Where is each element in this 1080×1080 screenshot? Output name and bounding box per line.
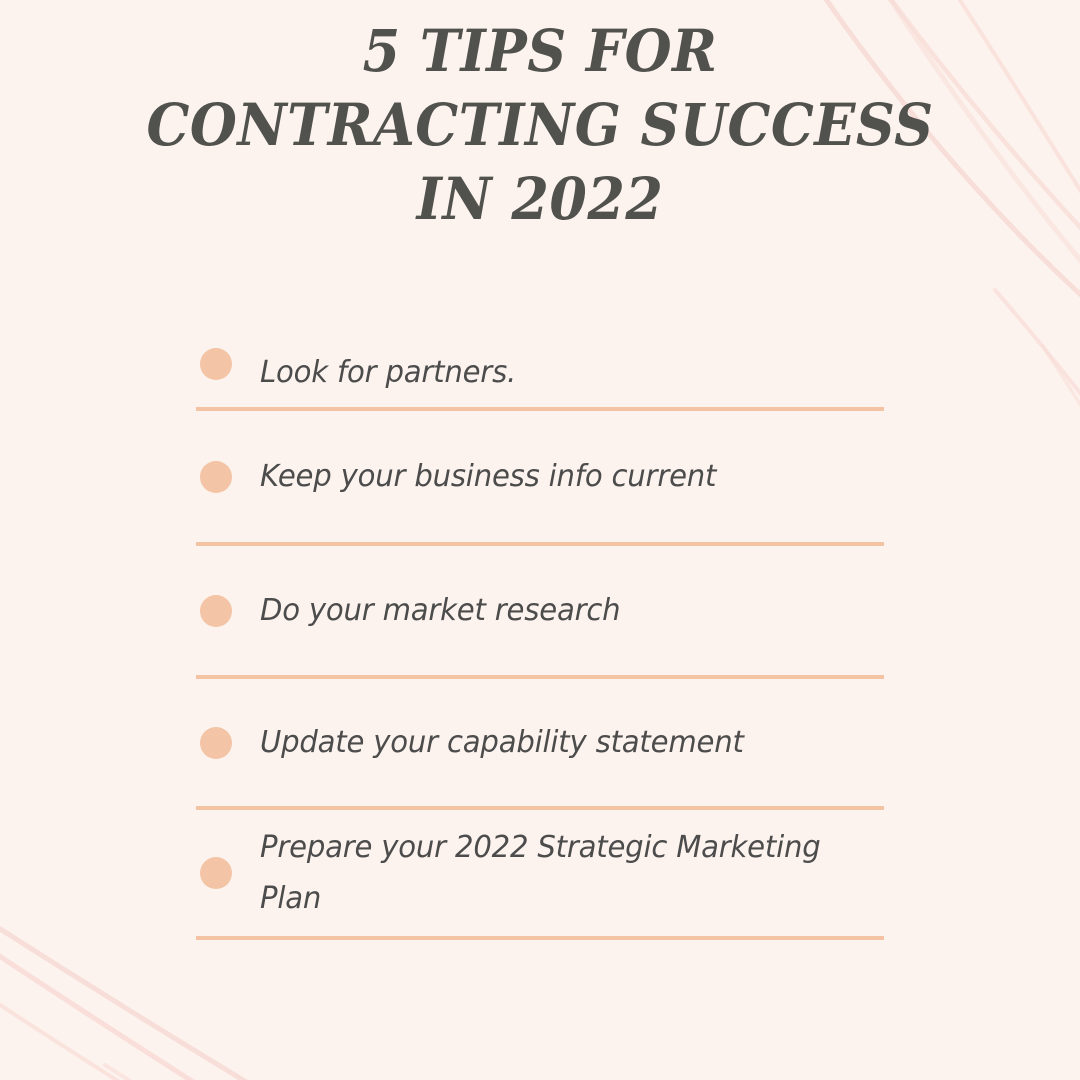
list-item: Look for partners. bbox=[196, 330, 884, 411]
tip-text: Prepare your 2022 Strategic Marketing Pl… bbox=[260, 822, 865, 924]
list-item: Update your capability statement bbox=[196, 679, 884, 810]
list-item: Keep your business info current bbox=[196, 411, 884, 546]
title-line-2: CONTRACTING SUCCESS bbox=[38, 88, 1042, 162]
tips-list: Look for partners. Keep your business in… bbox=[196, 330, 884, 940]
bullet-circle-icon bbox=[200, 857, 232, 889]
title-line-3: IN 2022 bbox=[38, 162, 1042, 236]
tip-text: Keep your business info current bbox=[260, 452, 865, 502]
poster-canvas: 5 TIPS FOR CONTRACTING SUCCESS IN 2022 L… bbox=[0, 0, 1080, 1080]
list-item: Do your market research bbox=[196, 546, 884, 679]
bullet-circle-icon bbox=[200, 348, 232, 380]
bullet-circle-icon bbox=[200, 461, 232, 493]
list-item: Prepare your 2022 Strategic Marketing Pl… bbox=[196, 810, 884, 940]
tip-text: Update your capability statement bbox=[260, 718, 865, 768]
bullet-circle-icon bbox=[200, 595, 232, 627]
poster-title: 5 TIPS FOR CONTRACTING SUCCESS IN 2022 bbox=[0, 14, 1080, 236]
title-line-1: 5 TIPS FOR bbox=[38, 14, 1042, 88]
tip-text: Look for partners. bbox=[260, 348, 865, 398]
tip-text: Do your market research bbox=[260, 586, 865, 636]
bullet-circle-icon bbox=[200, 727, 232, 759]
